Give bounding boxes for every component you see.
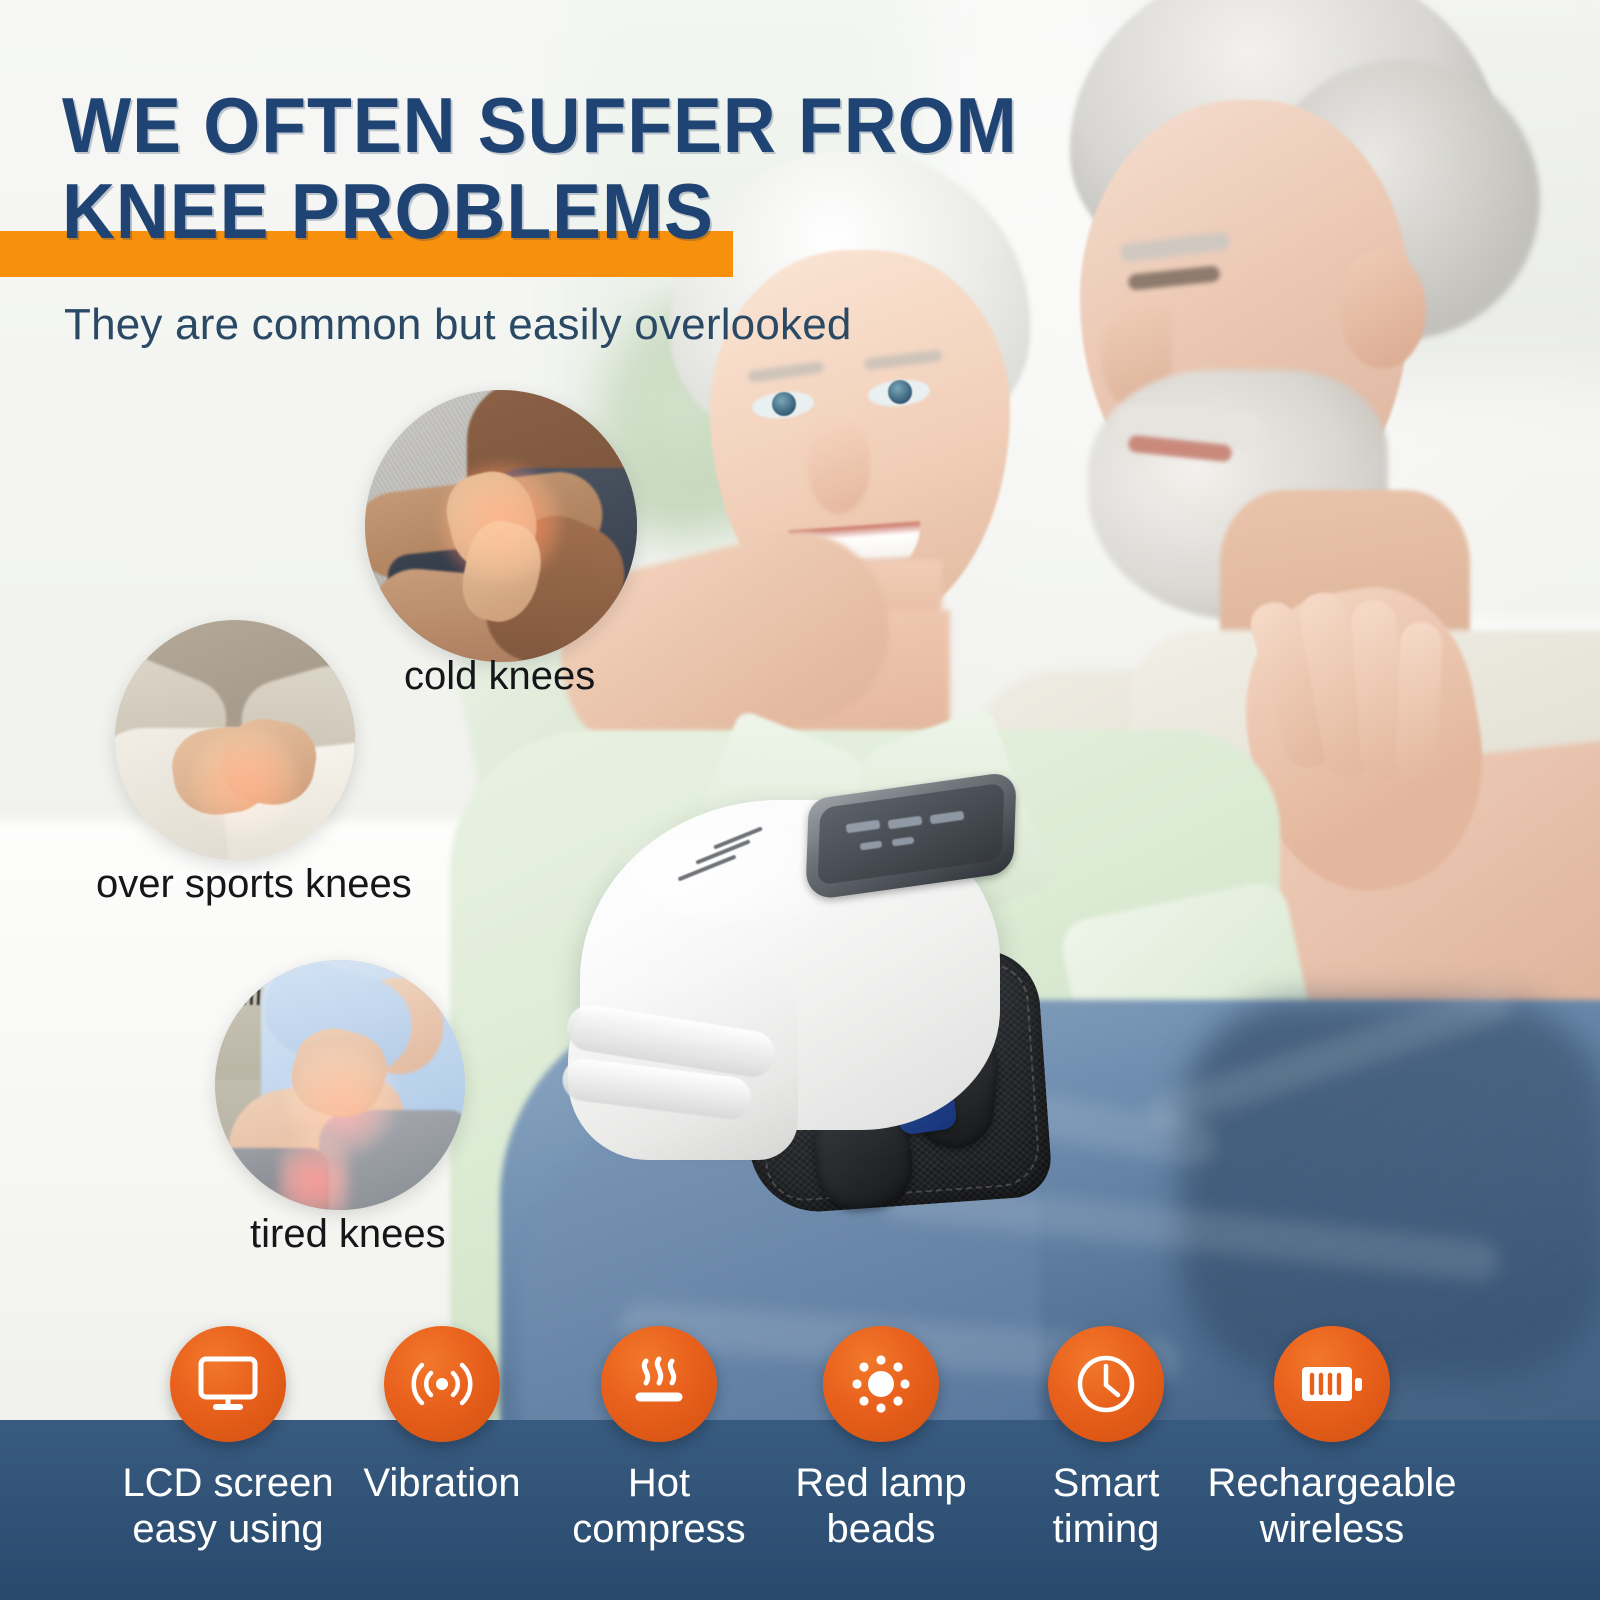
- feature-label-line1: Rechargeable: [1207, 1461, 1456, 1505]
- feature-label-line2: easy using: [132, 1507, 323, 1551]
- feature-icon-badge: [384, 1326, 500, 1442]
- callout-photo-cold-knees: [365, 390, 637, 662]
- feature-smart-timing[interactable]: Smart timing: [981, 1326, 1231, 1552]
- feature-label-line1: LCD screen: [122, 1461, 333, 1505]
- feature-label: Vibration: [317, 1460, 567, 1506]
- woman-finger: [1395, 621, 1442, 780]
- woman-nose: [808, 422, 870, 514]
- feature-label-line1: Red lamp: [795, 1461, 966, 1505]
- product-advertisement: WE OFTEN SUFFER FROM KNEE PROBLEMS They …: [0, 0, 1600, 1600]
- man-ear: [1340, 250, 1426, 368]
- feature-icon-badge: [1274, 1326, 1390, 1442]
- woman-pupil: [888, 380, 912, 404]
- feature-label-line2: beads: [827, 1507, 936, 1551]
- feature-lcd-screen[interactable]: LCD screen easy using: [103, 1326, 353, 1552]
- feature-red-lamp-beads[interactable]: Red lamp beads: [756, 1326, 1006, 1552]
- feature-label-line1: Smart: [1053, 1461, 1160, 1505]
- feature-icon-badge: [1048, 1326, 1164, 1442]
- feature-label: LCD screen easy using: [103, 1460, 353, 1552]
- page-subtitle: They are common but easily overlooked: [64, 300, 852, 350]
- feature-label-line2: compress: [572, 1507, 745, 1551]
- feature-label: Rechargeable wireless: [1207, 1460, 1457, 1552]
- feature-label: Smart timing: [981, 1460, 1231, 1552]
- callout-label-cold-knees: cold knees: [404, 654, 595, 699]
- feature-icon-badge: [601, 1326, 717, 1442]
- callout-label-tired-knees: tired knees: [250, 1212, 446, 1257]
- feature-label-line1: Hot: [628, 1461, 690, 1505]
- headline-line-2: KNEE PROBLEMS: [62, 168, 1058, 254]
- feature-label-line1: Vibration: [363, 1461, 520, 1505]
- callout-photo-tired-knees: [215, 960, 465, 1210]
- callout-label-over-sports-knees: over sports knees: [96, 862, 412, 907]
- feature-hot-compress[interactable]: Hot compress: [534, 1326, 784, 1552]
- feature-label-line2: wireless: [1260, 1507, 1404, 1551]
- pain-glow: [439, 460, 563, 586]
- knee-massager-device: [560, 770, 1030, 1200]
- pain-glow-shin: [279, 1126, 349, 1210]
- callout-photo-over-sports-knees: [115, 620, 355, 860]
- feature-rechargeable-wireless[interactable]: Rechargeable wireless: [1207, 1326, 1457, 1552]
- feature-vibration[interactable]: Vibration: [317, 1326, 567, 1506]
- feature-icon-badge: [170, 1326, 286, 1442]
- feature-label: Red lamp beads: [756, 1460, 1006, 1552]
- feature-icon-badge: [823, 1326, 939, 1442]
- feature-label-line2: timing: [1053, 1507, 1160, 1551]
- headline-line-1: WE OFTEN SUFFER FROM: [62, 81, 1018, 169]
- feature-label: Hot compress: [534, 1460, 784, 1552]
- woman-pupil: [772, 392, 796, 416]
- page-title: WE OFTEN SUFFER FROM KNEE PROBLEMS: [62, 82, 1058, 254]
- pain-glow: [189, 724, 301, 836]
